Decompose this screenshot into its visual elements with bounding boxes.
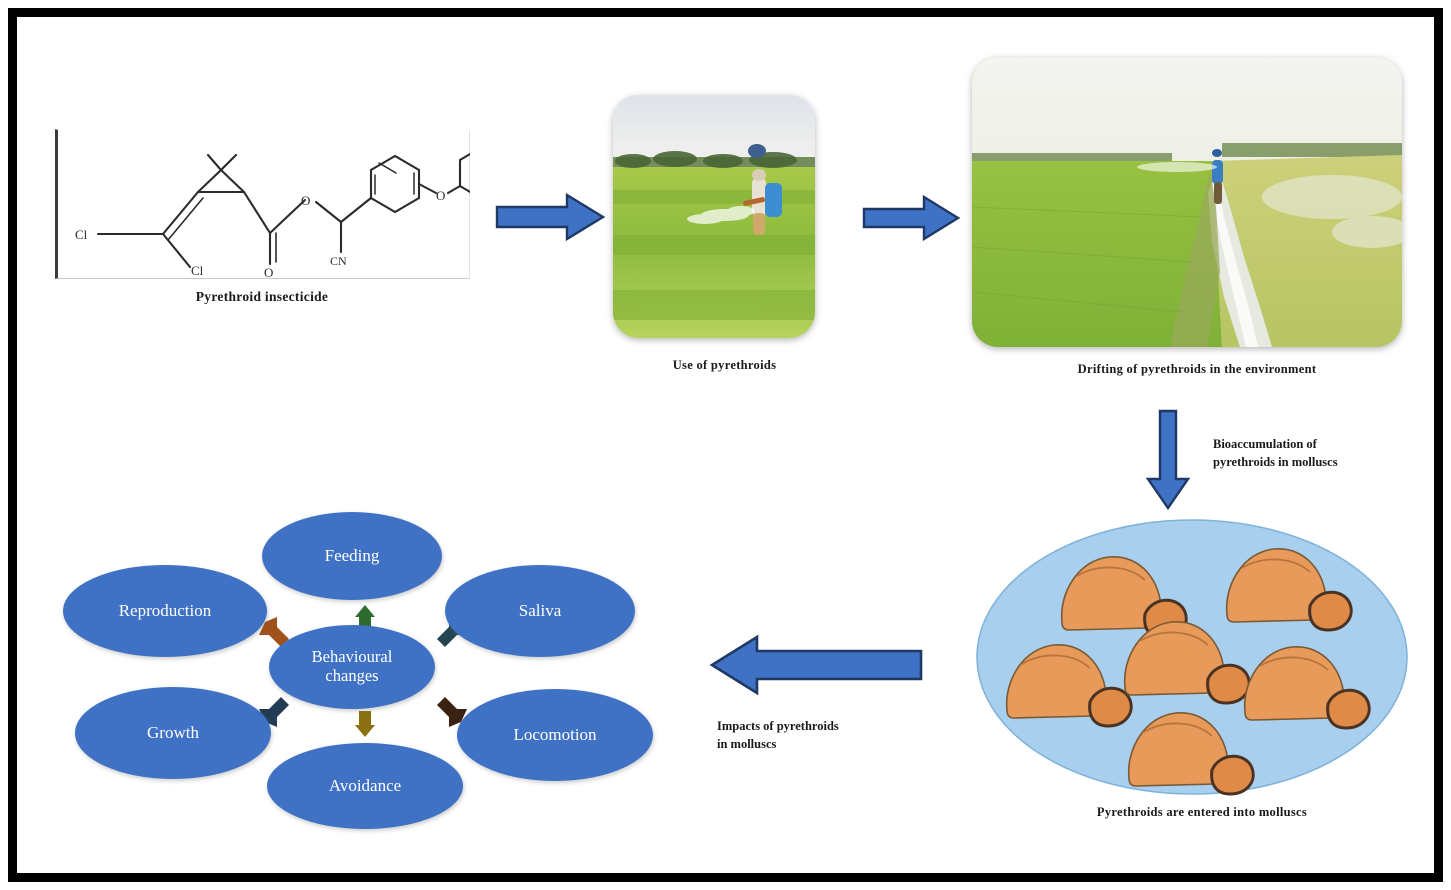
- label-impacts: Impacts of pyrethroids in molluscs: [717, 717, 932, 753]
- bubble-locomotion-label: Locomotion: [513, 725, 596, 745]
- label-bioaccumulation: Bioaccumulation of pyrethroids in mollus…: [1213, 435, 1428, 471]
- bubble-reproduction-label: Reproduction: [119, 601, 212, 621]
- bubble-reproduction[interactable]: Reproduction: [63, 565, 267, 657]
- bubble-growth-label: Growth: [147, 723, 199, 743]
- drifting-field-illustration: [972, 57, 1402, 347]
- bubble-center-line1: Behavioural: [312, 648, 393, 667]
- bubble-feeding[interactable]: Feeding: [262, 512, 442, 600]
- caption-chemical-structure: Pyrethroid insecticide: [47, 289, 477, 305]
- label-bioaccumulation-line2: pyrethroids in molluscs: [1213, 453, 1428, 471]
- bubble-behavioural-changes[interactable]: Behavioural changes: [269, 625, 435, 709]
- arrow-chem-to-spraying: [495, 189, 607, 245]
- arrow-spraying-to-drifting: [862, 192, 962, 244]
- atom-label-cl-left: Cl: [75, 227, 88, 242]
- photo-drifting-of-pyrethroids: [972, 57, 1402, 347]
- label-impacts-line1: Impacts of pyrethroids: [717, 717, 932, 735]
- bubble-avoidance-label: Avoidance: [329, 776, 401, 796]
- bubble-locomotion[interactable]: Locomotion: [457, 689, 653, 781]
- bubble-avoidance[interactable]: Avoidance: [267, 743, 463, 829]
- label-impacts-line2: in molluscs: [717, 735, 932, 753]
- arrow-to-avoidance: [355, 711, 375, 737]
- bubble-growth[interactable]: Growth: [75, 687, 271, 779]
- bubble-saliva-label: Saliva: [519, 601, 562, 621]
- photo-use-of-pyrethroids: [613, 95, 815, 338]
- atom-label-o-carbonyl: O: [264, 265, 273, 278]
- atom-label-o-ester: O: [301, 193, 310, 208]
- atom-label-cl-bottom: Cl: [191, 263, 204, 278]
- label-bioaccumulation-line1: Bioaccumulation of: [1213, 435, 1428, 453]
- arrow-drifting-to-molluscs: [1145, 409, 1191, 511]
- figure-canvas: Cl Cl O O O CN Pyrethroid insecticide: [17, 17, 1434, 873]
- pyrethroid-structure-svg: Cl Cl O O O CN: [58, 130, 470, 278]
- spraying-field-illustration: [613, 95, 815, 338]
- bubble-center-line2: changes: [325, 667, 378, 686]
- atom-label-o-ether: O: [436, 188, 445, 203]
- figure-border: Cl Cl O O O CN Pyrethroid insecticide: [8, 8, 1443, 882]
- bubble-saliva[interactable]: Saliva: [445, 565, 635, 657]
- figure-page: Cl Cl O O O CN Pyrethroid insecticide: [0, 0, 1451, 890]
- molluscs-pond-illustration: [972, 512, 1412, 802]
- caption-drifting-of-pyrethroids: Drifting of pyrethroids in the environme…: [972, 362, 1422, 377]
- arrow-molluscs-to-behaviour: [709, 629, 925, 701]
- caption-use-of-pyrethroids: Use of pyrethroids: [602, 358, 847, 373]
- bubble-feeding-label: Feeding: [325, 546, 380, 566]
- chemical-structure-box: Cl Cl O O O CN: [55, 129, 470, 279]
- atom-label-cn: CN: [330, 254, 347, 268]
- caption-molluscs: Pyrethroids are entered into molluscs: [1017, 805, 1387, 820]
